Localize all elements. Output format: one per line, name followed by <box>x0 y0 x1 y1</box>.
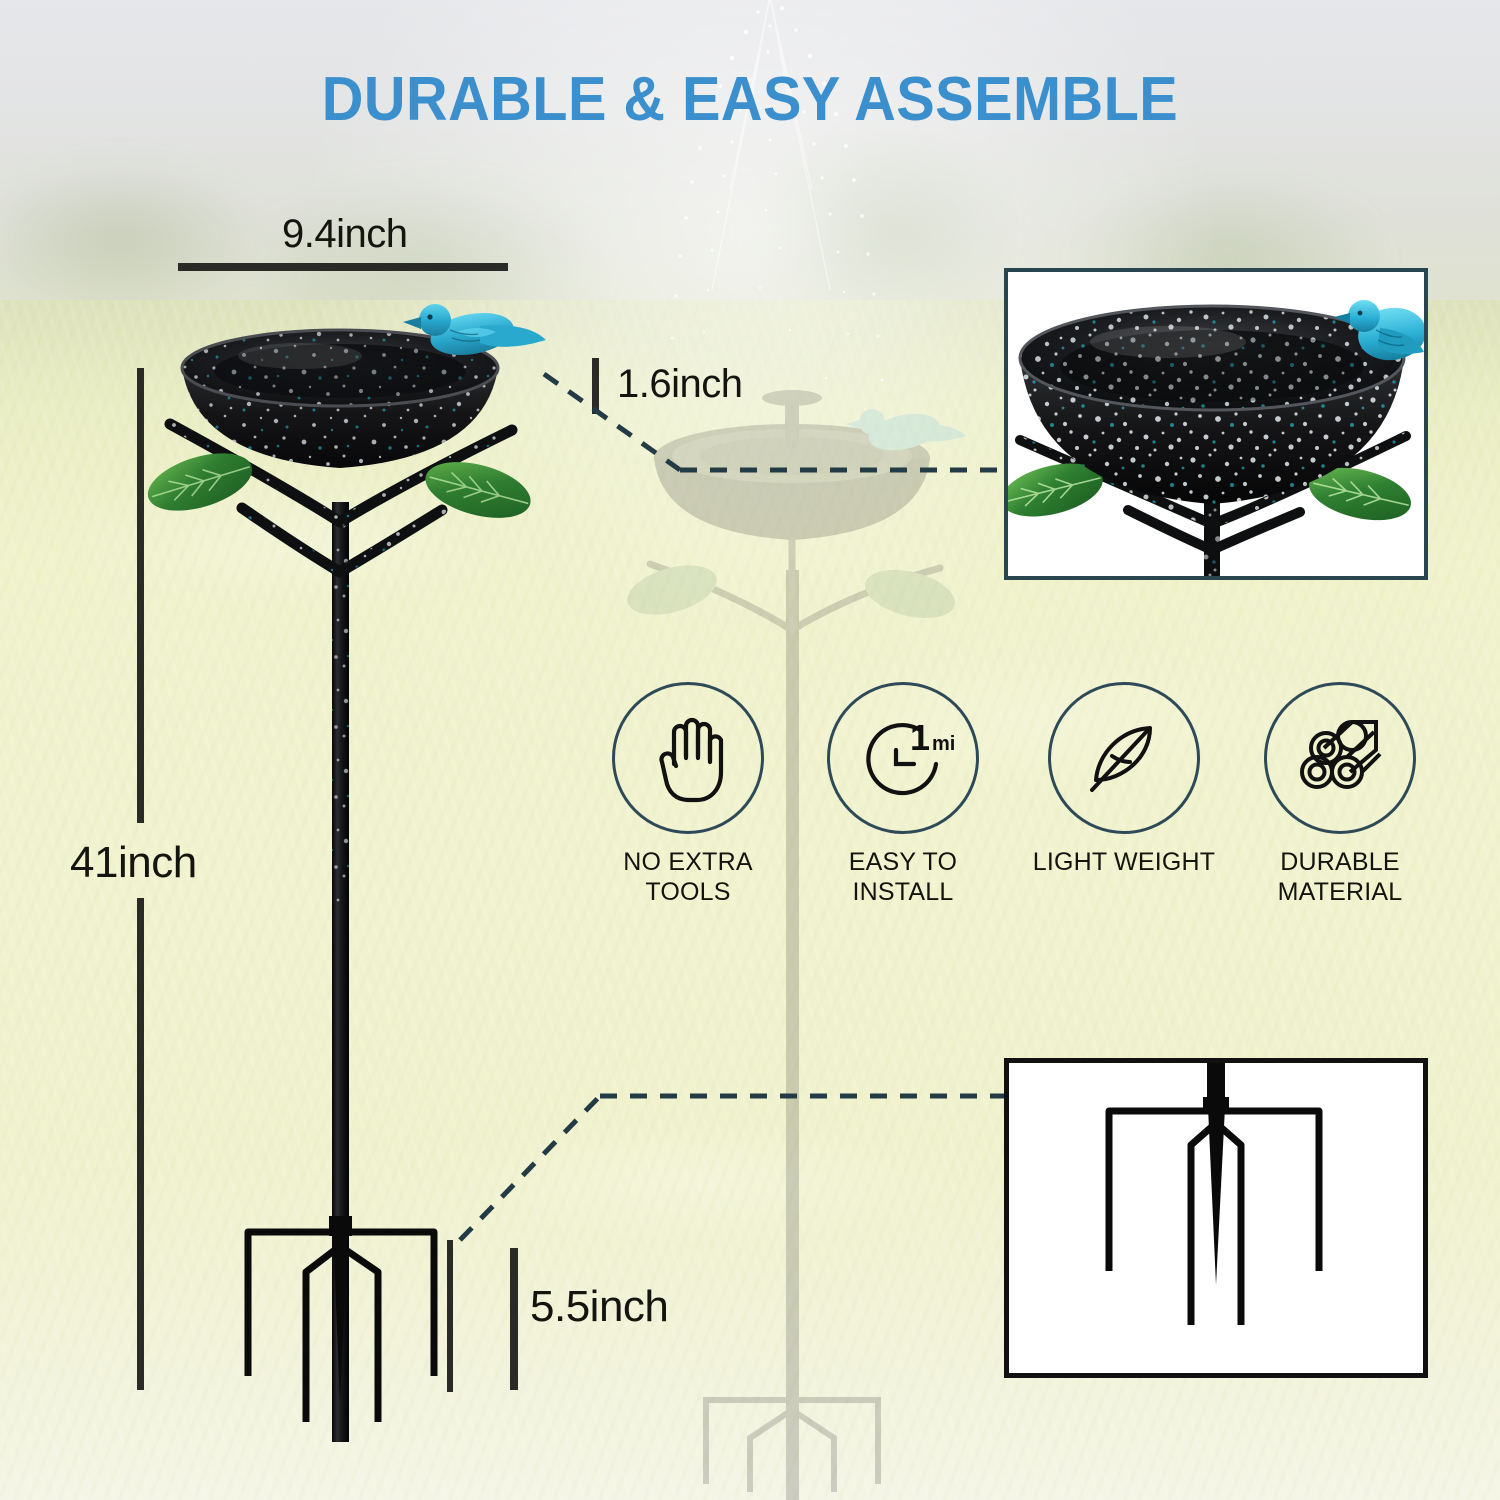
feature-easy-to-install: 1 min EASY TO INSTALL <box>803 682 1003 907</box>
bowl-closeup-photo <box>1004 268 1428 580</box>
feature-durable-material: DURABLE MATERIAL <box>1240 682 1440 907</box>
dimension-rule-stake-right <box>510 1248 518 1390</box>
clock-badge-unit: min <box>932 733 956 755</box>
feature-label: NO EXTRA TOOLS <box>588 848 788 907</box>
dimension-rule-height-lower <box>137 898 144 1390</box>
feature-circle <box>1048 682 1200 834</box>
ground-stake-closeup-photo <box>1004 1058 1428 1378</box>
dimension-label-bowl-width: 9.4inch <box>282 212 407 257</box>
hand-icon <box>640 710 736 806</box>
feature-label: DURABLE MATERIAL <box>1240 848 1440 907</box>
feature-no-extra-tools: NO EXTRA TOOLS <box>588 682 788 907</box>
dimension-rule-stake-left <box>447 1240 453 1392</box>
page-title: DURABLE & EASY ASSEMBLE <box>53 64 1448 135</box>
dimension-rule-height-upper <box>137 368 144 823</box>
bird-bath-ghost-overlay <box>610 380 990 1500</box>
feather-icon <box>1076 710 1172 806</box>
clock-badge-number: 1 <box>910 717 930 758</box>
feature-label: EASY TO INSTALL <box>803 848 1003 907</box>
dimension-rule-bowl-width <box>178 263 508 271</box>
feature-circle <box>1264 682 1416 834</box>
dimension-label-total-height: 41inch <box>70 838 197 888</box>
clock-icon: 1 min <box>850 710 956 806</box>
feature-circle: 1 min <box>827 682 979 834</box>
dimension-label-bowl-depth: 1.6inch <box>617 362 742 407</box>
feature-light-weight: LIGHT WEIGHT <box>1024 682 1224 878</box>
feature-circle <box>612 682 764 834</box>
tubes-icon <box>1290 710 1390 806</box>
feature-label: LIGHT WEIGHT <box>1024 848 1224 878</box>
stake-collar <box>329 1216 352 1236</box>
feature-list: NO EXTRA TOOLS 1 min EASY TO INSTALL <box>588 682 1440 927</box>
dimension-label-stake-depth: 5.5inch <box>530 1282 668 1332</box>
dimension-tick-bowl-depth <box>592 358 599 414</box>
